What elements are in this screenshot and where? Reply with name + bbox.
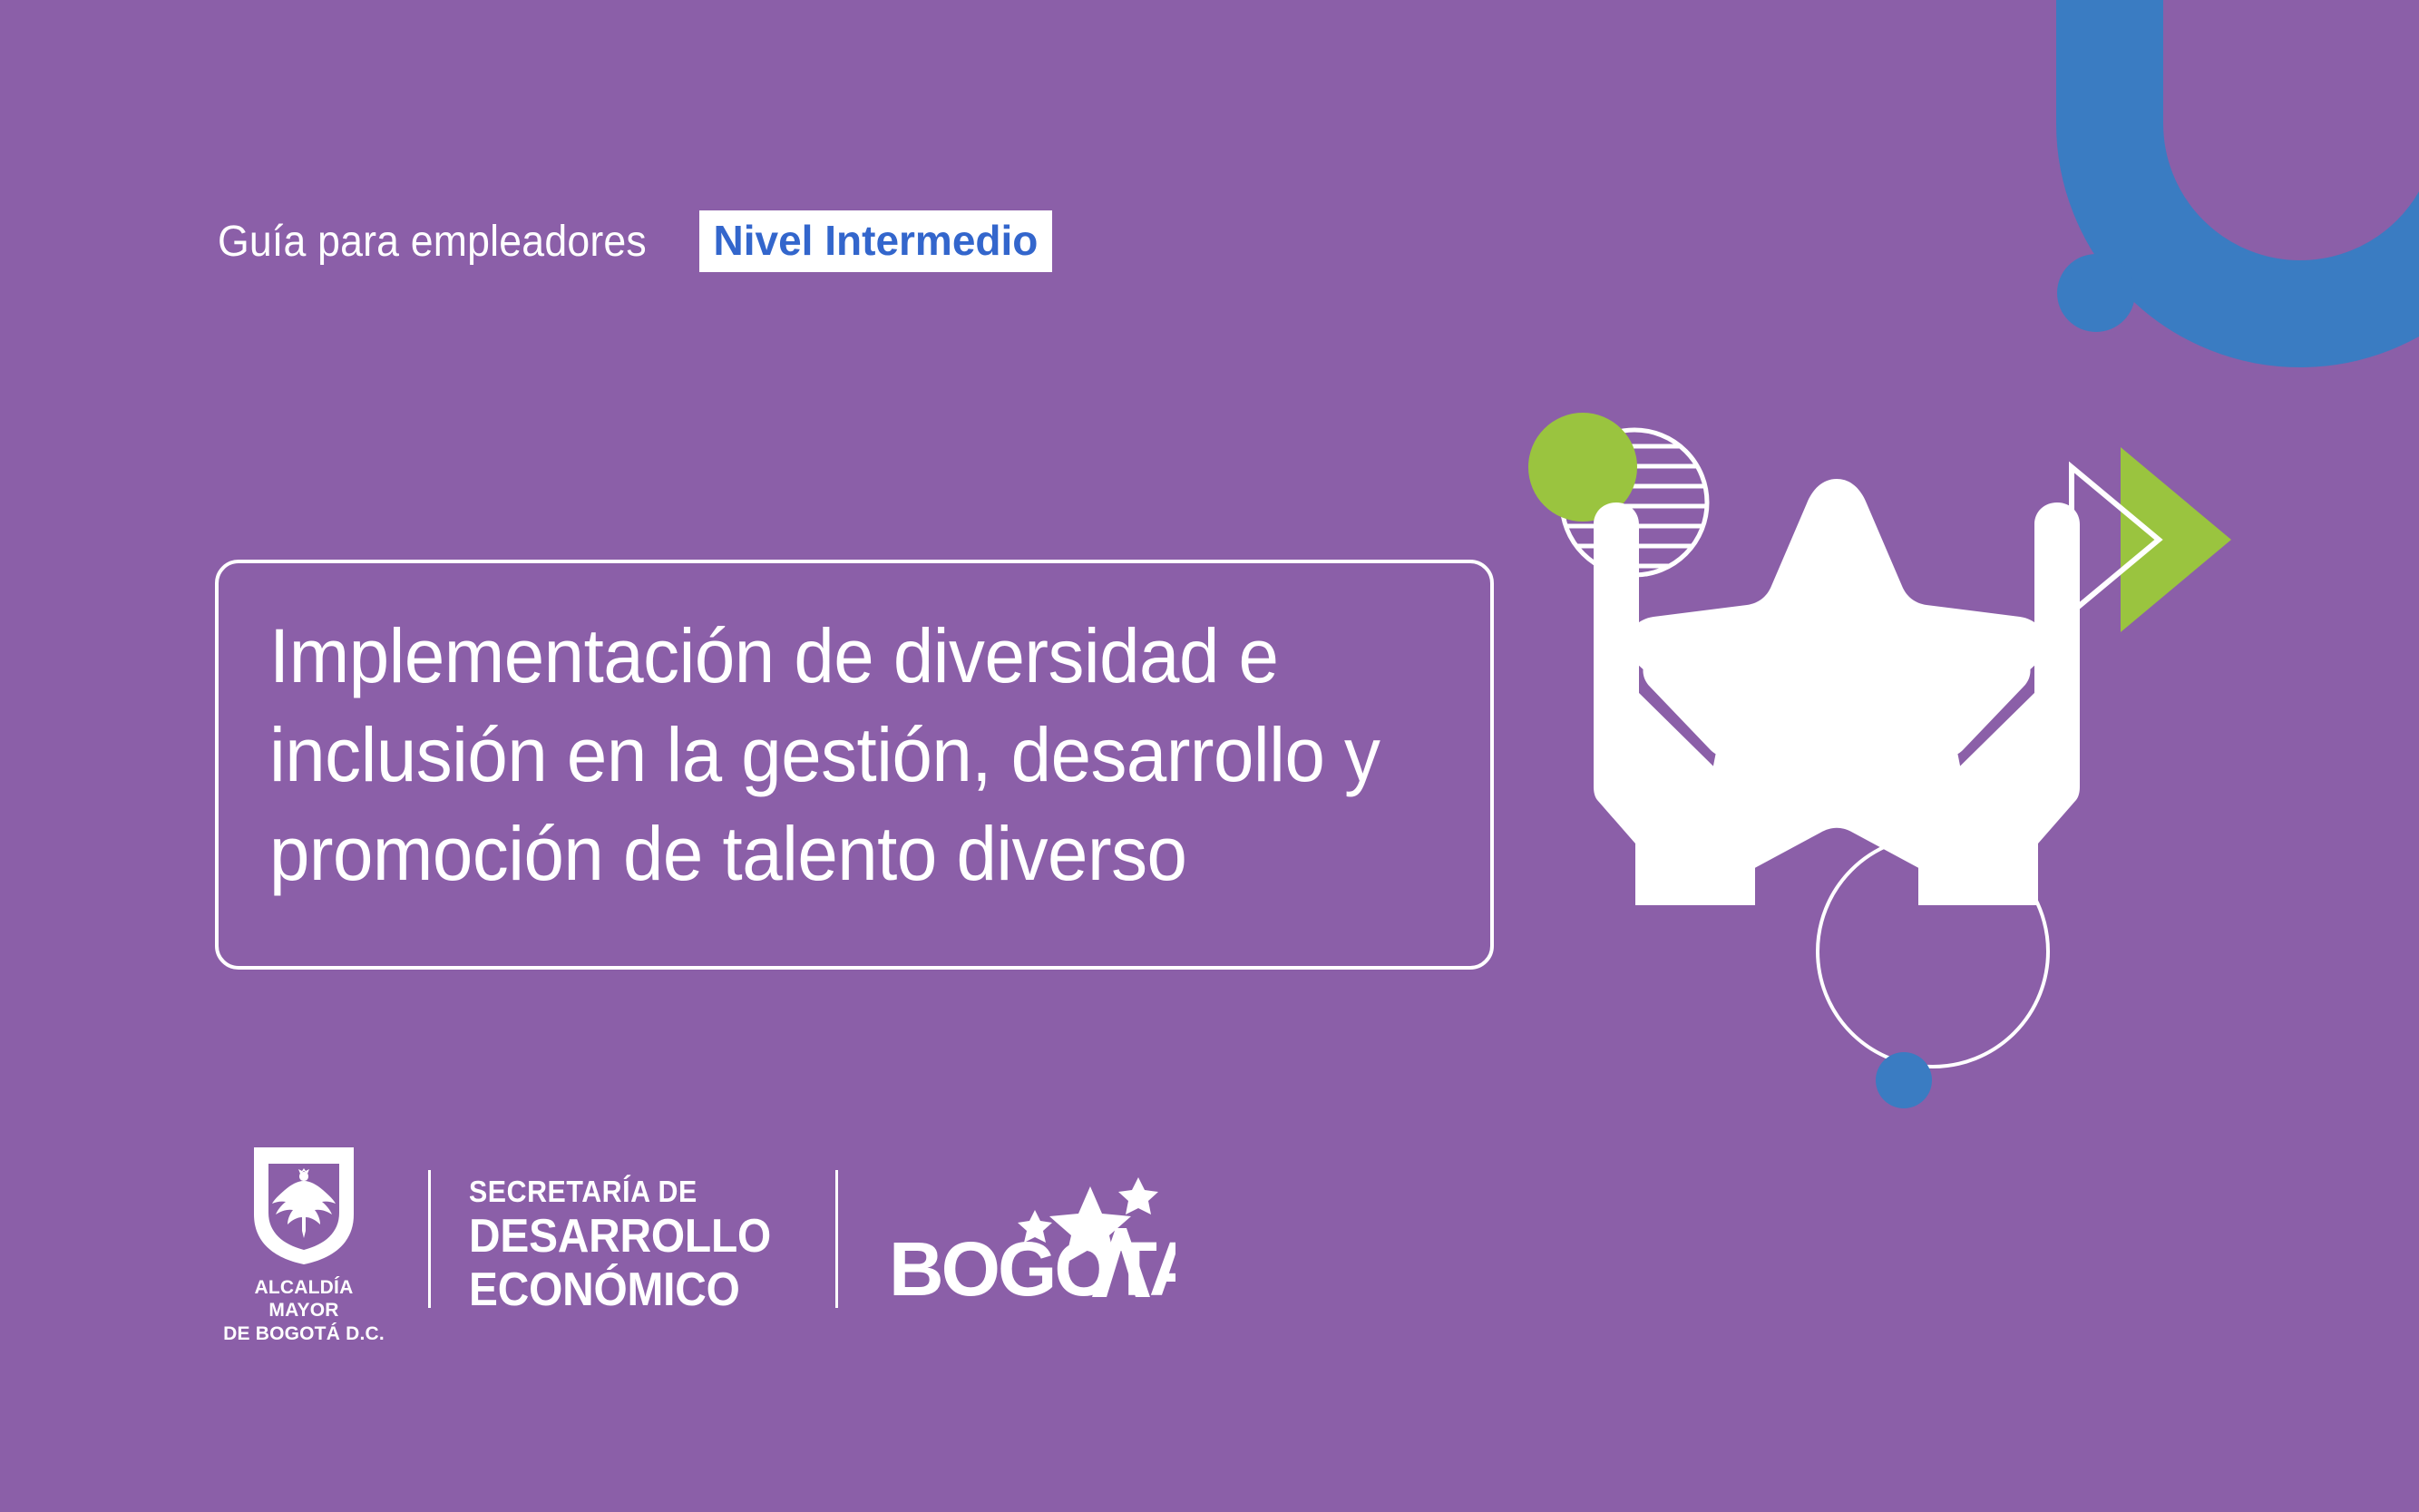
bogota-brand-logo: BOGOTA bbox=[876, 1172, 1175, 1317]
eyebrow-label: Guía para empleadores bbox=[218, 217, 647, 267]
alcaldia-caption-line2: DE BOGOTÁ D.C. bbox=[218, 1322, 390, 1346]
hands-holding-star-illustration bbox=[1583, 463, 2091, 1016]
alcaldia-caption: ALCALDÍA MAYOR DE BOGOTÁ D.C. bbox=[218, 1276, 390, 1346]
logo-divider-2 bbox=[835, 1170, 838, 1308]
secretaria-line-2: DESARROLLO bbox=[469, 1213, 771, 1260]
alcaldia-caption-line1: ALCALDÍA MAYOR bbox=[218, 1276, 390, 1322]
secretaria-line-1: SECRETARÍA DE bbox=[469, 1176, 771, 1206]
slide-canvas: Guía para empleadores Nivel Intermedio I… bbox=[0, 0, 2419, 1512]
bogota-shield-crest-icon bbox=[249, 1144, 359, 1267]
footer-logo-bar: ALCALDÍA MAYOR DE BOGOTÁ D.C. SECRETARÍA… bbox=[218, 1154, 1175, 1335]
blue-dot-top-icon bbox=[2057, 254, 2135, 332]
blue-horseshoe-arc-icon bbox=[2010, 0, 2419, 414]
secretaria-desarrollo-economico-logo: SECRETARÍA DE DESARROLLO ECONÓMICO bbox=[469, 1176, 797, 1313]
status-badge: Nivel Intermedio bbox=[699, 210, 1053, 272]
title-card: Implementación de diversidad e inclusión… bbox=[215, 560, 1494, 970]
green-solid-triangle-icon bbox=[2121, 447, 2231, 632]
alcaldia-mayor-logo: ALCALDÍA MAYOR DE BOGOTÁ D.C. bbox=[218, 1144, 390, 1346]
blue-dot-bottom-icon bbox=[1876, 1052, 1932, 1108]
page-title: Implementación de diversidad e inclusión… bbox=[269, 607, 1395, 904]
secretaria-line-3: ECONÓMICO bbox=[469, 1266, 771, 1313]
eyebrow-row: Guía para empleadores Nivel Intermedio bbox=[218, 210, 1052, 272]
logo-divider-1 bbox=[428, 1170, 431, 1308]
